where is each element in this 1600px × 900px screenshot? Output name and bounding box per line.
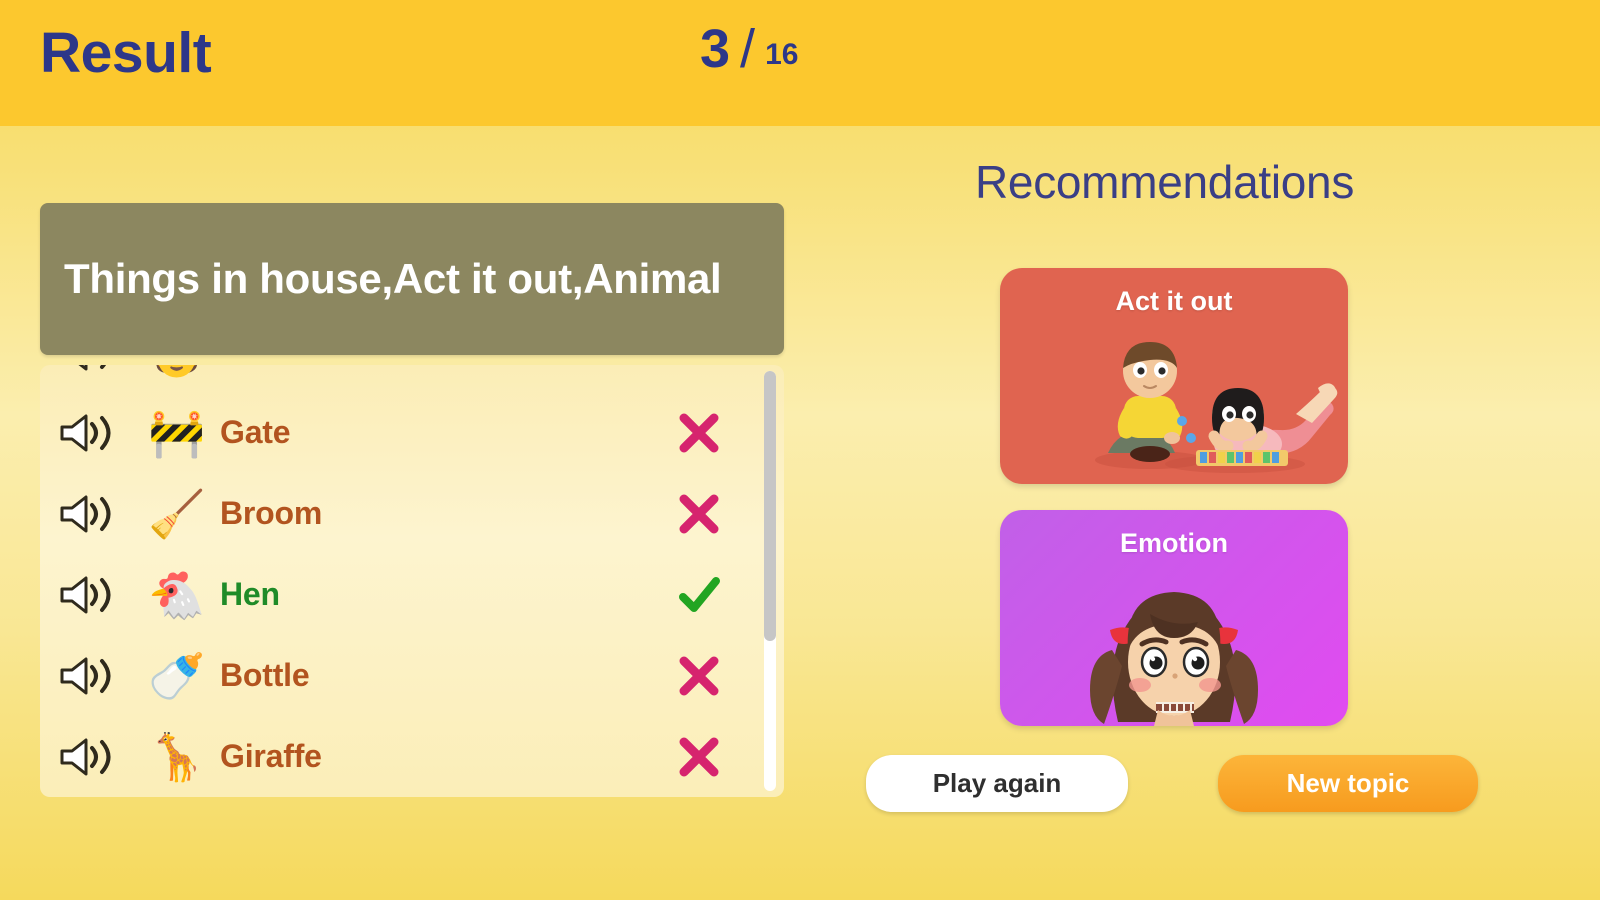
word-image: 🧹 <box>134 491 220 537</box>
word-label: Hen <box>220 576 614 613</box>
score-current: 3 <box>700 22 730 76</box>
word-label: Giraffe <box>220 738 614 775</box>
speaker-icon[interactable] <box>40 573 134 617</box>
topic-bar: Things in house,Act it out,Animal <box>40 203 784 355</box>
speaker-icon[interactable] <box>40 492 134 536</box>
status-icon <box>614 653 784 699</box>
word-label: Broom <box>220 495 614 532</box>
play-again-button[interactable]: Play again <box>866 755 1128 812</box>
word-label: Gate <box>220 414 614 451</box>
result-rows: 🧒🚧Gate🧹Broom🐔Hen🍼Bottle🦒Giraffe <box>40 365 784 797</box>
status-icon <box>614 410 784 456</box>
header-bar: Result 3 / 16 <box>0 0 1600 126</box>
status-icon <box>614 572 784 618</box>
result-screen: Result 3 / 16 Things in house,Act it out… <box>0 0 1600 900</box>
new-topic-button[interactable]: New topic <box>1218 755 1478 812</box>
word-label: Bottle <box>220 657 614 694</box>
list-scrollbar[interactable] <box>764 371 776 791</box>
word-image: 🧒 <box>134 365 220 375</box>
word-image: 🚧 <box>134 410 220 456</box>
speaker-icon[interactable] <box>40 365 134 374</box>
result-row[interactable]: 🚧Gate <box>40 392 784 473</box>
speaker-icon[interactable] <box>40 654 134 698</box>
word-image: 🐔 <box>134 572 220 618</box>
result-row[interactable]: 🐔Hen <box>40 554 784 635</box>
status-icon <box>614 734 784 780</box>
result-row[interactable]: 🧒 <box>40 365 784 392</box>
score-display: 3 / 16 <box>700 22 798 76</box>
topic-label: Things in house,Act it out,Animal <box>40 255 745 303</box>
recommendations-title: Recommendations <box>975 155 1354 209</box>
recommendation-card-emotion[interactable]: Emotion <box>1000 510 1348 726</box>
recommendation-card-label: Emotion <box>1000 528 1348 559</box>
word-image: 🍼 <box>134 653 220 699</box>
result-row[interactable]: 🍼Bottle <box>40 635 784 716</box>
result-row[interactable]: 🧹Broom <box>40 473 784 554</box>
page-title: Result <box>40 25 211 82</box>
recommendation-card-act-it-out[interactable]: Act it out <box>1000 268 1348 484</box>
result-row[interactable]: 🦒Giraffe <box>40 716 784 797</box>
result-list[interactable]: 🧒🚧Gate🧹Broom🐔Hen🍼Bottle🦒Giraffe <box>40 365 784 797</box>
speaker-icon[interactable] <box>40 411 134 455</box>
status-icon <box>614 491 784 537</box>
recommendation-card-label: Act it out <box>1000 286 1348 317</box>
score-total: 16 <box>765 40 798 70</box>
scrollbar-thumb[interactable] <box>764 371 776 641</box>
word-image: 🦒 <box>134 734 220 780</box>
speaker-icon[interactable] <box>40 735 134 779</box>
score-separator: / <box>740 22 755 76</box>
